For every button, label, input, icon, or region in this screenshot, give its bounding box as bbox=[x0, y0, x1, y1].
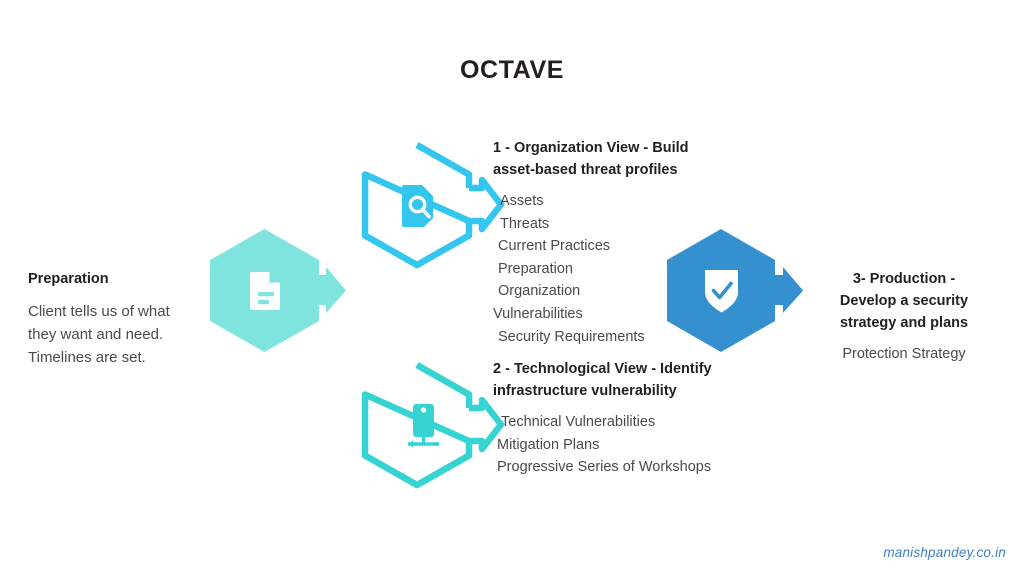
list-item: Vulnerabilities bbox=[493, 303, 753, 326]
preparation-text-block: Preparation Client tells us of what they… bbox=[28, 268, 218, 369]
preparation-heading: Preparation bbox=[28, 268, 218, 290]
list-item: Threats bbox=[493, 213, 753, 236]
preparation-body-line: they want and need. bbox=[28, 323, 218, 346]
technological-view-hexagon bbox=[358, 361, 506, 489]
list-item: Organization bbox=[493, 280, 753, 303]
organization-view-hexagon bbox=[358, 141, 506, 269]
page-title: OCTAVE bbox=[0, 56, 1024, 85]
stage-3-heading-line: 3- Production - bbox=[806, 268, 1002, 290]
list-item: Technical Vulnerabilities bbox=[493, 411, 783, 434]
preparation-hexagon bbox=[204, 227, 352, 353]
stage-3-heading: 3- Production - Develop a security strat… bbox=[806, 268, 1002, 334]
stage-3-text-block: 3- Production - Develop a security strat… bbox=[806, 268, 1002, 365]
stage-2-heading: 2 - Technological View - Identify infras… bbox=[493, 358, 743, 402]
list-item: Preparation bbox=[493, 258, 753, 281]
stage-1-heading-line: 1 - Organization View - Build bbox=[493, 137, 723, 159]
stage-1-heading-line: asset-based threat profiles bbox=[493, 159, 723, 181]
list-item: Progressive Series of Workshops bbox=[493, 456, 783, 479]
stage-3-heading-line: Develop a security bbox=[806, 290, 1002, 312]
list-item: Current Practices bbox=[493, 235, 753, 258]
preparation-body: Client tells us of what they want and ne… bbox=[28, 300, 218, 369]
list-item: Assets bbox=[493, 190, 753, 213]
organization-view-hexagon-shape bbox=[358, 141, 506, 269]
stage-3-list: Protection Strategy bbox=[806, 343, 1002, 365]
stage-1-text-block: 1 - Organization View - Build asset-base… bbox=[493, 137, 753, 348]
list-item: Protection Strategy bbox=[806, 343, 1002, 365]
preparation-body-line: Client tells us of what bbox=[28, 300, 218, 323]
watermark-credit: manishpandey.co.in bbox=[883, 545, 1006, 560]
stage-2-heading-line: 2 - Technological View - Identify bbox=[493, 358, 743, 380]
stage-1-list: Assets Threats Current Practices Prepara… bbox=[493, 190, 753, 348]
document-search-icon bbox=[402, 185, 433, 227]
preparation-body-line: Timelines are set. bbox=[28, 346, 218, 369]
stage-1-heading: 1 - Organization View - Build asset-base… bbox=[493, 137, 723, 181]
list-item: Mitigation Plans bbox=[493, 434, 783, 457]
list-item: Security Requirements bbox=[493, 326, 753, 349]
stage-2-list: Technical Vulnerabilities Mitigation Pla… bbox=[493, 411, 783, 479]
stage-2-text-block: 2 - Technological View - Identify infras… bbox=[493, 358, 783, 479]
preparation-hexagon-shape bbox=[204, 227, 352, 353]
stage-3-heading-line: strategy and plans bbox=[806, 312, 1002, 334]
stage-2-heading-line: infrastructure vulnerability bbox=[493, 380, 743, 402]
technological-view-hexagon-shape bbox=[358, 361, 506, 489]
